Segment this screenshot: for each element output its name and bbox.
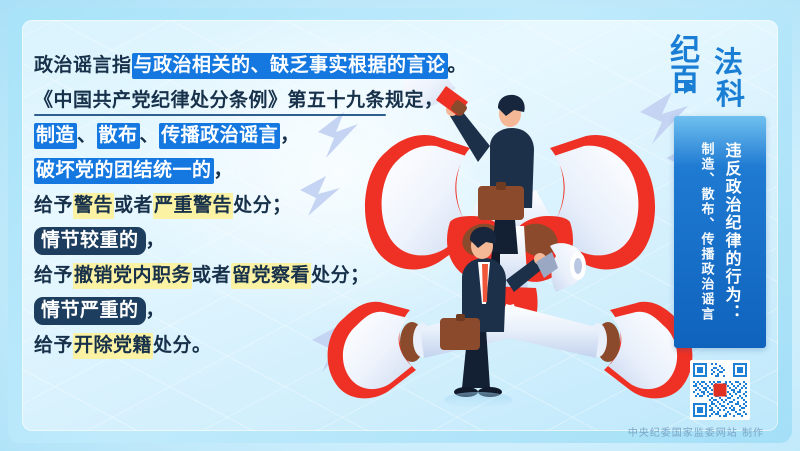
line5-prefix: 给予 — [34, 195, 73, 216]
line3-sep1: 、 — [77, 125, 97, 146]
play-triangle-icon — [684, 80, 695, 94]
line3-sep2: 、 — [140, 125, 160, 146]
text-line-1: 政治谣言指与政治相关的、缺乏事实根据的言论。 — [34, 48, 484, 83]
credit-line: 中央纪委国家监委网站 制作 — [628, 424, 764, 439]
line9-tail: 处分。 — [153, 335, 212, 356]
logo-char-ji: 纪 — [670, 36, 700, 66]
text-line-9: 给予开除党籍处分。 — [34, 328, 484, 363]
line9-prefix: 给予 — [34, 335, 73, 356]
line1-suffix: 。 — [448, 55, 468, 76]
line4-highlight: 破坏党的团结统一的 — [34, 158, 214, 184]
line3-tail: ， — [280, 125, 300, 146]
brand-rail: 纪 法 百 科 违反政治纪律的行为： 制造、散布、传播政治谣言 — [666, 36, 774, 420]
line1-highlight: 与政治相关的、缺乏事实根据的言论 — [132, 53, 448, 79]
line5-tail: 处分； — [233, 195, 292, 216]
line9-h1: 开除党籍 — [73, 333, 153, 359]
banner-main-text: 违反政治纪律的行为： — [720, 125, 744, 339]
line4-tail: ， — [214, 160, 234, 181]
banner-sub-text: 制造、散布、传播政治谣言 — [697, 125, 716, 339]
text-line-4: 破坏党的团结统一的， — [34, 153, 484, 188]
text-line-7: 给予撤销党内职务或者留党察看处分； — [34, 258, 484, 293]
line3-h1: 制造 — [34, 123, 77, 149]
text-line-5: 给予警告或者严重警告处分； — [34, 188, 484, 223]
line5-h2: 严重警告 — [153, 193, 233, 219]
vertical-banner: 违反政治纪律的行为： 制造、散布、传播政治谣言 — [674, 116, 766, 348]
logo-char-fa: 法 — [714, 48, 743, 77]
line6-tail: ， — [146, 230, 166, 251]
line1-prefix: 政治谣言指 — [34, 55, 132, 76]
line3-h3: 传播政治谣言 — [159, 123, 280, 149]
line7-prefix: 给予 — [34, 265, 73, 286]
text-line-6: 情节较重的， — [34, 223, 484, 258]
logo-char-ke: 科 — [716, 80, 745, 109]
megaphone-front-right — [500, 302, 692, 399]
qr-code[interactable] — [690, 360, 750, 420]
line8-pill: 情节严重的 — [34, 297, 146, 325]
text-line-8: 情节严重的， — [34, 293, 484, 328]
line3-h2: 散布 — [97, 123, 140, 149]
text-line-2: 《中国共产党纪律处分条例》第五十九条规定， — [34, 83, 484, 118]
body-text-block: 政治谣言指与政治相关的、缺乏事实根据的言论。 《中国共产党纪律处分条例》第五十九… — [34, 48, 484, 363]
qr-center-logo — [714, 384, 727, 397]
line8-tail: ， — [146, 300, 166, 321]
line7-h2: 留党察看 — [231, 263, 311, 289]
line5-mid: 或者 — [114, 195, 153, 216]
line2-regulation-title: 《中国共产党纪律处分条例》第五十九条规定， — [34, 90, 444, 111]
line5-h1: 警告 — [73, 193, 114, 219]
line7-h1: 撤销党内职务 — [73, 263, 192, 289]
line7-mid: 或者 — [192, 265, 231, 286]
line7-tail: 处分； — [311, 265, 370, 286]
line6-pill: 情节较重的 — [34, 227, 146, 255]
text-line-3: 制造、散布、传播政治谣言， — [34, 118, 484, 153]
jifa-baike-logo[interactable]: 纪 法 百 科 — [668, 36, 772, 112]
poster-root: 政治谣言指与政治相关的、缺乏事实根据的言论。 《中国共产党纪律处分条例》第五十九… — [0, 0, 800, 451]
